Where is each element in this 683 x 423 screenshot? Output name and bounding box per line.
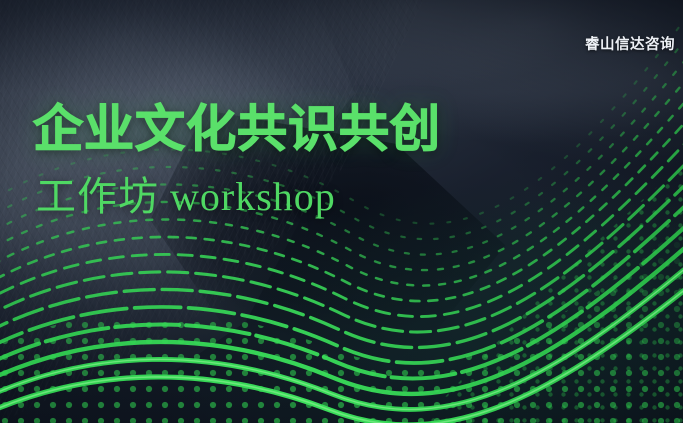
page-title: 企业文化共识共创	[33, 103, 441, 156]
title-slide: 睿山信达咨询 企业文化共识共创 工作坊 workshop	[0, 0, 683, 423]
company-logo-text: 睿山信达咨询	[585, 33, 675, 54]
page-subtitle: 工作坊 workshop	[36, 175, 336, 219]
